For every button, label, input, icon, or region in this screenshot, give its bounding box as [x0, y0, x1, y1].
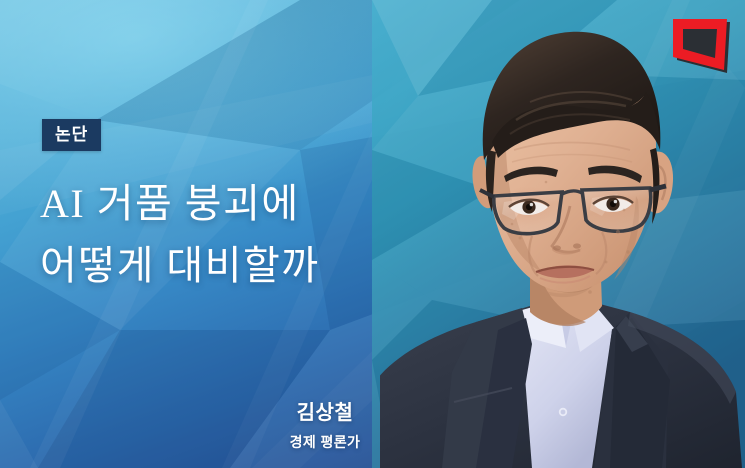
article-header-card: 논단 AI 거품 붕괴에 어떻게 대비할까 김상철 경제 평론가: [0, 0, 745, 468]
author-role: 경제 평론가: [0, 432, 650, 452]
byline: 김상철 경제 평론가: [0, 396, 650, 452]
headline-line-2: 어떻게 대비할까: [40, 235, 460, 297]
author-name: 김상철: [0, 396, 650, 425]
category-badge[interactable]: 논단: [42, 119, 101, 151]
publisher-logo[interactable]: [670, 18, 734, 78]
headline: AI 거품 붕괴에 어떻게 대비할까: [40, 173, 460, 297]
headline-line-1: AI 거품 붕괴에: [40, 173, 460, 235]
